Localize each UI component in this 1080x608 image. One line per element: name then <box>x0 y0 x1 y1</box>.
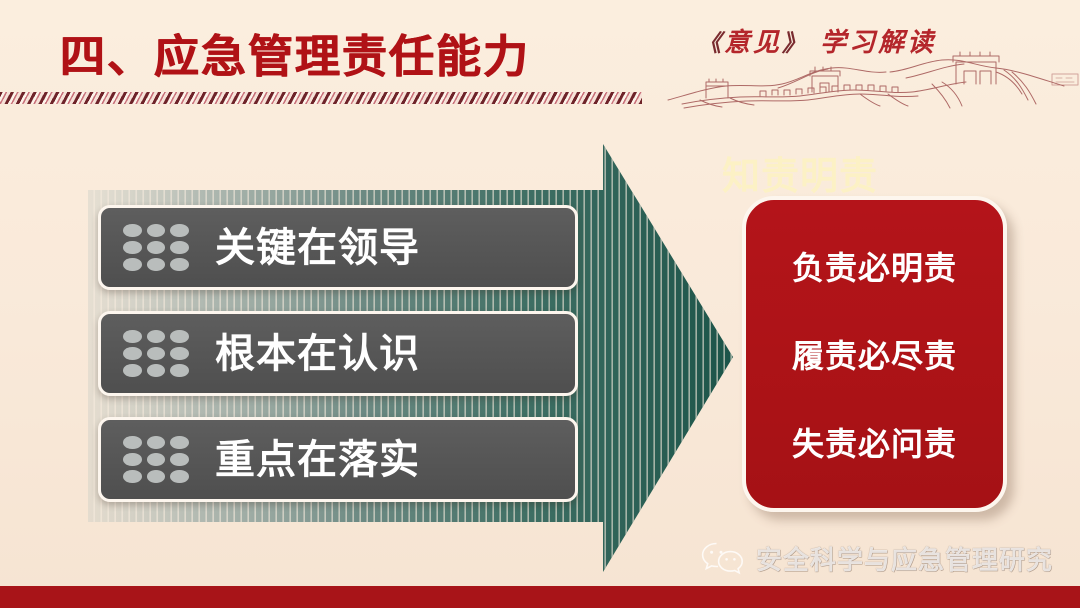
card-line: 失责必问责 <box>792 419 957 465</box>
wechat-icon <box>700 540 744 576</box>
list-item[interactable]: 根本在认识 <box>98 311 578 396</box>
responsibility-card: 负责必明责 履责必尽责 失责必问责 <box>742 196 1007 512</box>
page-title: 四、应急管理责任能力 <box>60 20 530 85</box>
header-decoration: 《意见》 学习解读 <box>660 0 1080 115</box>
slide-canvas: 四、应急管理责任能力 《意见》 学习解读 <box>0 0 1080 608</box>
watermark: 安全科学与应急管理研究 <box>700 538 1053 578</box>
great-wall-illustration-icon <box>660 48 1080 110</box>
card-line: 履责必尽责 <box>792 331 957 377</box>
slide-header: 四、应急管理责任能力 《意见》 学习解读 <box>0 0 1080 110</box>
list-item[interactable]: 关键在领导 <box>98 205 578 290</box>
list-item-label: 根本在认识 <box>215 334 420 374</box>
card-line: 负责必明责 <box>792 243 957 289</box>
list-item[interactable]: 重点在落实 <box>98 417 578 502</box>
watermark-label: 安全科学与应急管理研究 <box>756 540 1053 577</box>
key-points-list: 关键在领导 根本在认识 重点在落实 <box>98 205 578 523</box>
list-item-label: 重点在落实 <box>215 440 420 480</box>
ghost-heading: 知责明责 <box>722 145 952 200</box>
dot-grid-icon <box>123 224 189 272</box>
dot-grid-icon <box>123 436 189 484</box>
hatched-divider <box>0 92 642 104</box>
list-item-label: 关键在领导 <box>215 228 420 268</box>
bottom-accent-bar <box>0 586 1080 608</box>
dot-grid-icon <box>123 330 189 378</box>
